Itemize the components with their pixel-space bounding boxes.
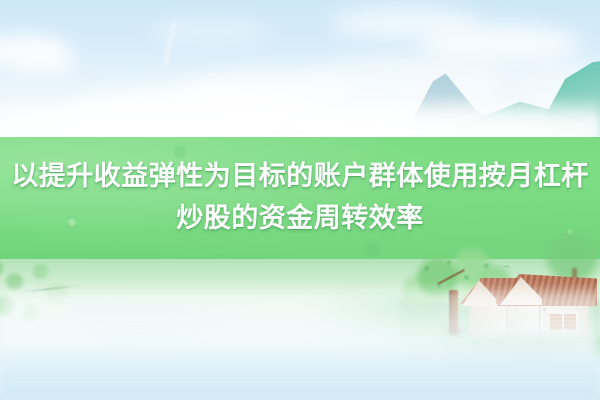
scene-image: 以提升收益弹性为目标的账户群体使用按月杠杆炒股的资金周转效率 bbox=[0, 0, 600, 400]
page-title: 以提升收益弹性为目标的账户群体使用按月杠杆炒股的资金周转效率 bbox=[8, 156, 592, 240]
bottom-mist bbox=[0, 352, 600, 400]
cloud-icon bbox=[18, 50, 78, 72]
bird-icon bbox=[503, 265, 510, 269]
headline-container: 以提升收益弹性为目标的账户群体使用按月杠杆炒股的资金周转效率 bbox=[0, 137, 600, 259]
